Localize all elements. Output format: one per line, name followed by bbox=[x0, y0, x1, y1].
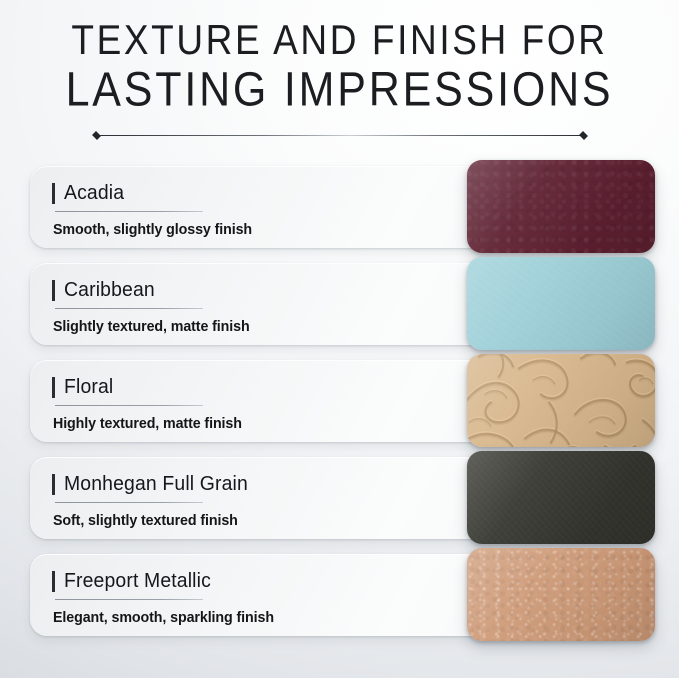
swatch-card-body: Monhegan Full GrainSoft, slightly textur… bbox=[52, 471, 254, 529]
swatch-row[interactable]: CaribbeanSlightly textured, matte finish bbox=[0, 263, 679, 345]
swatch-card-body: CaribbeanSlightly textured, matte finish bbox=[52, 277, 260, 335]
swatch-list: AcadiaSmooth, slightly glossy finishCari… bbox=[0, 166, 679, 651]
title-divider bbox=[92, 131, 588, 141]
swatch-sheen-overlay bbox=[467, 160, 655, 253]
swatch-chip[interactable] bbox=[467, 451, 655, 544]
diamond-right-icon bbox=[579, 131, 588, 140]
swatch-name-row: Caribbean bbox=[52, 277, 260, 303]
swatch-name: Floral bbox=[64, 376, 113, 399]
swatch-name-underline bbox=[55, 211, 203, 212]
swatch-card-body: FloralHighly textured, matte finish bbox=[52, 374, 252, 432]
swatch-description: Highly textured, matte finish bbox=[53, 415, 242, 432]
swatch-name-underline bbox=[55, 405, 203, 406]
accent-bar-icon bbox=[52, 377, 55, 398]
swatch-sheen-overlay bbox=[467, 257, 655, 350]
divider-rule bbox=[99, 135, 581, 136]
swatch-name: Monhegan Full Grain bbox=[64, 473, 248, 496]
swatch-name: Acadia bbox=[64, 182, 124, 205]
swatch-sheen-overlay bbox=[467, 354, 655, 447]
swatch-card-body: AcadiaSmooth, slightly glossy finish bbox=[52, 180, 263, 238]
swatch-name-underline bbox=[55, 308, 203, 309]
swatch-chip[interactable] bbox=[467, 257, 655, 350]
swatch-row[interactable]: AcadiaSmooth, slightly glossy finish bbox=[0, 166, 679, 248]
swatch-name-row: Freeport Metallic bbox=[52, 568, 286, 594]
swatch-row[interactable]: FloralHighly textured, matte finish bbox=[0, 360, 679, 442]
swatch-row[interactable]: Freeport MetallicElegant, smooth, sparkl… bbox=[0, 554, 679, 636]
page-header: TEXTURE AND FINISH FOR LASTING IMPRESSIO… bbox=[0, 18, 679, 110]
page-title-line-1: TEXTURE AND FINISH FOR bbox=[0, 18, 679, 62]
swatch-name: Freeport Metallic bbox=[64, 570, 211, 593]
swatch-card-body: Freeport MetallicElegant, smooth, sparkl… bbox=[52, 568, 286, 626]
swatch-name-row: Floral bbox=[52, 374, 252, 400]
infographic-page: TEXTURE AND FINISH FOR LASTING IMPRESSIO… bbox=[0, 0, 679, 678]
swatch-description: Soft, slightly textured finish bbox=[53, 512, 244, 529]
accent-bar-icon bbox=[52, 280, 55, 301]
swatch-sheen-overlay bbox=[467, 451, 655, 544]
swatch-description: Elegant, smooth, sparkling finish bbox=[53, 609, 274, 626]
swatch-description: Smooth, slightly glossy finish bbox=[53, 221, 252, 238]
swatch-name-underline bbox=[55, 502, 203, 503]
swatch-row[interactable]: Monhegan Full GrainSoft, slightly textur… bbox=[0, 457, 679, 539]
swatch-chip[interactable] bbox=[467, 160, 655, 253]
swatch-description: Slightly textured, matte finish bbox=[53, 318, 250, 335]
swatch-name-row: Acadia bbox=[52, 180, 263, 206]
accent-bar-icon bbox=[52, 183, 55, 204]
accent-bar-icon bbox=[52, 571, 55, 592]
swatch-chip[interactable] bbox=[467, 548, 655, 641]
accent-bar-icon bbox=[52, 474, 55, 495]
swatch-name-row: Monhegan Full Grain bbox=[52, 471, 254, 497]
page-title-line-2: LASTING IMPRESSIONS bbox=[0, 64, 679, 116]
swatch-name: Caribbean bbox=[64, 279, 155, 302]
swatch-sheen-overlay bbox=[467, 548, 655, 641]
swatch-name-underline bbox=[55, 599, 203, 600]
swatch-chip[interactable] bbox=[467, 354, 655, 447]
